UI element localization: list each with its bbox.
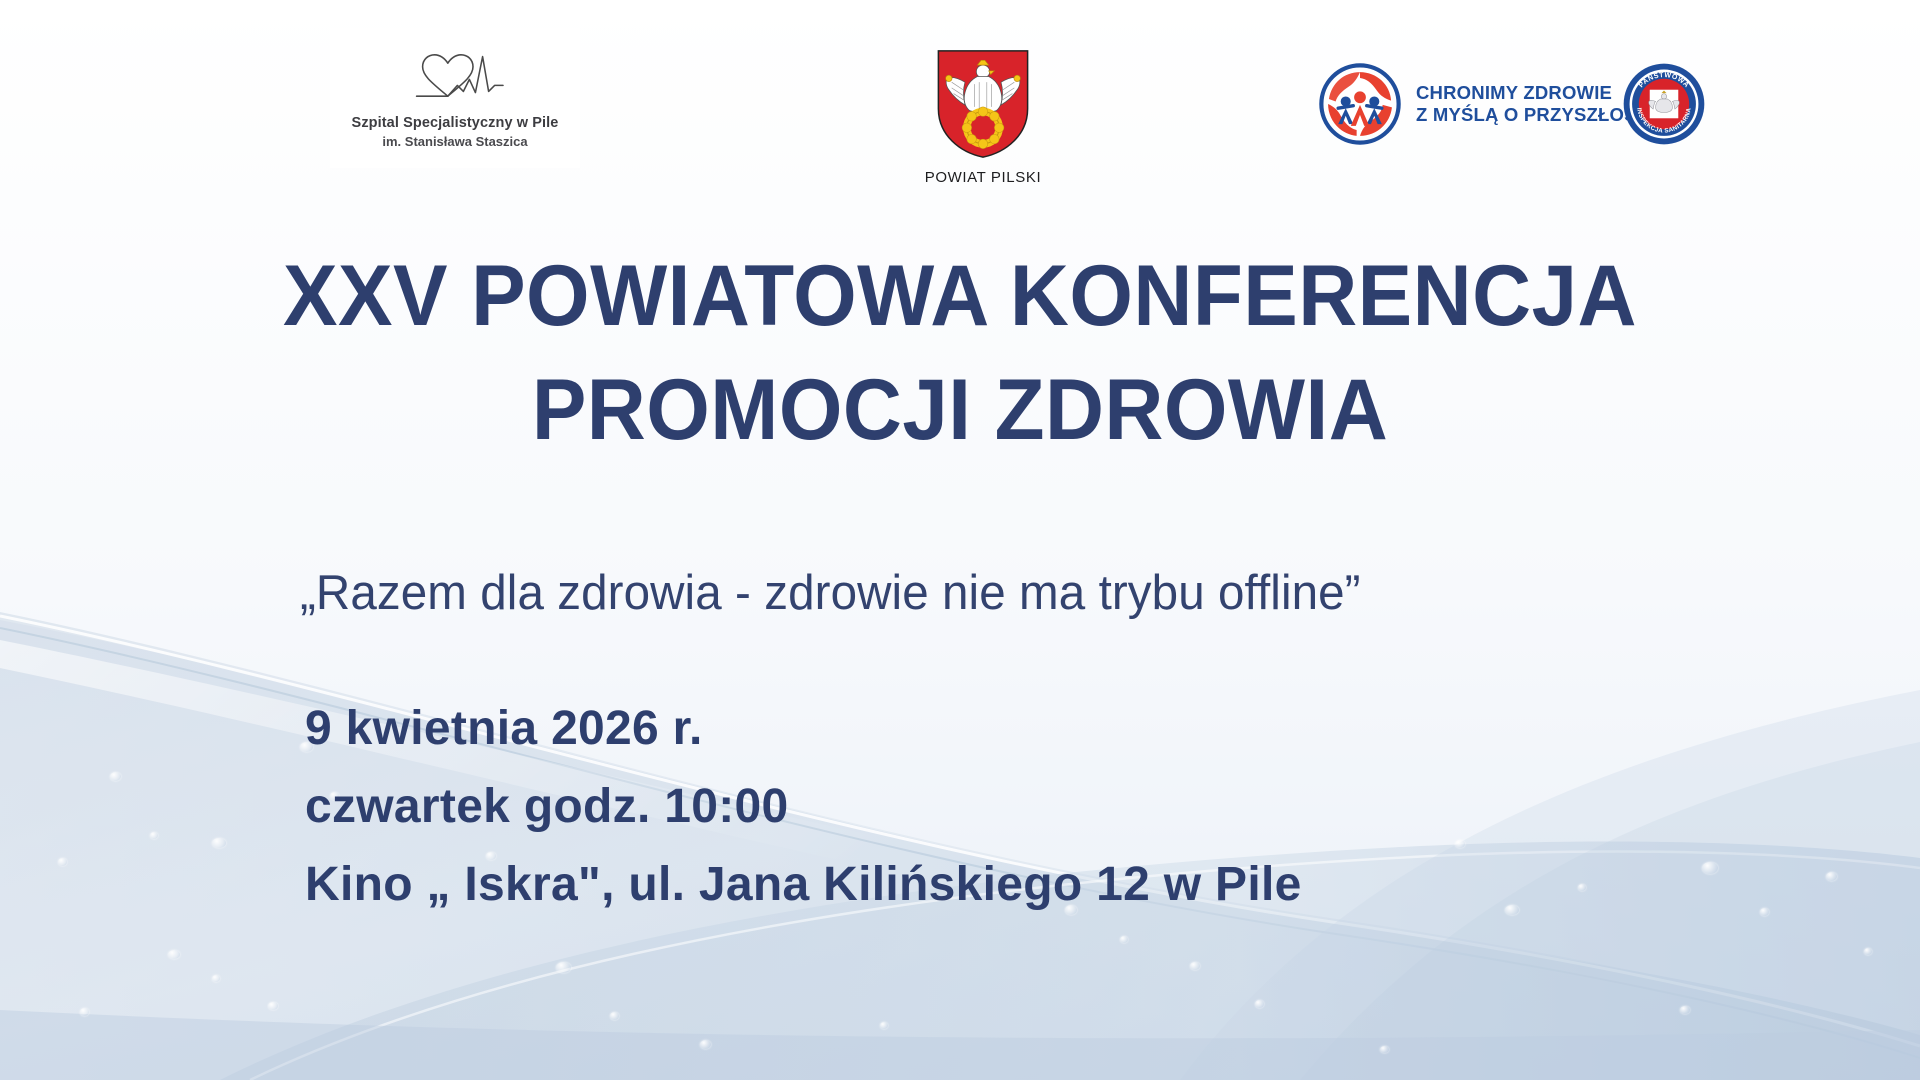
event-details: 9 kwietnia 2026 r. czwartek godz. 10:00 … [305, 690, 1302, 923]
title-line-1: XXV POWIATOWA KONFERENCJA [48, 240, 1872, 354]
event-date: 9 kwietnia 2026 r. [305, 690, 1302, 768]
event-venue: Kino „ Iskra", ul. Jana Kilińskiego 12 w… [305, 846, 1302, 924]
event-day-time: czwartek godz. 10:00 [305, 768, 1302, 846]
title-line-2: PROMOCJI ZDROWIA [48, 354, 1872, 468]
conference-slogan: „Razem dla zdrowia - zdrowie nie ma tryb… [300, 565, 1600, 621]
conference-title: XXV POWIATOWA KONFERENCJA PROMOCJI ZDROW… [0, 240, 1920, 467]
poster-content: XXV POWIATOWA KONFERENCJA PROMOCJI ZDROW… [0, 0, 1920, 1080]
conference-poster: Szpital Specjalistyczny w Pile im. Stani… [0, 0, 1920, 1080]
